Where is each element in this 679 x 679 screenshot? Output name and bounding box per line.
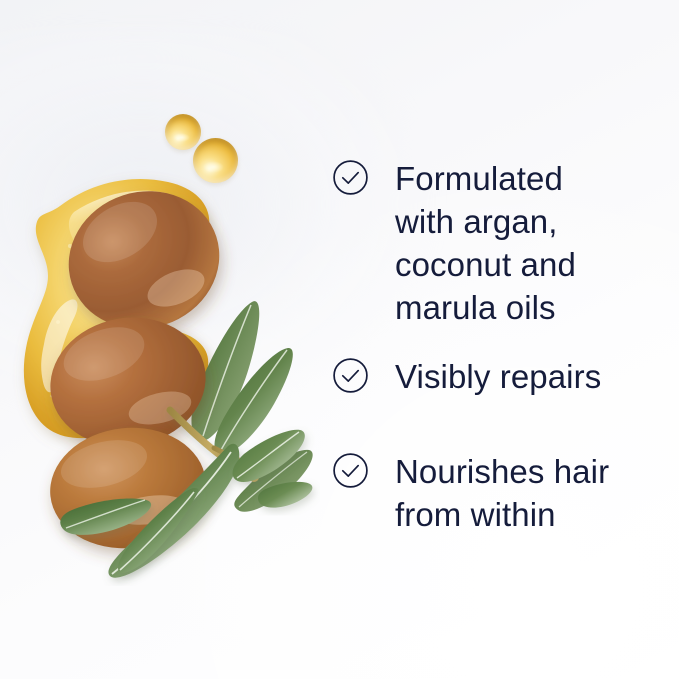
benefits-list: Formulated with argan, coconut and marul…: [332, 0, 679, 679]
infographic-canvas: Formulated with argan, coconut and marul…: [0, 0, 679, 679]
benefit-text-2: Visibly repairs: [395, 355, 601, 398]
benefit-item-3: Nourishes hair from within: [332, 450, 609, 536]
argan-leaf-sprig-front: [0, 96, 320, 586]
check-circle-icon: [332, 452, 369, 489]
product-ingredient-image: [0, 96, 320, 586]
check-circle-icon: [332, 357, 369, 394]
benefit-item-1: Formulated with argan, coconut and marul…: [332, 157, 576, 329]
check-circle-icon: [332, 159, 369, 196]
benefit-text-3: Nourishes hair from within: [395, 450, 609, 536]
benefit-text-1: Formulated with argan, coconut and marul…: [395, 157, 576, 329]
benefit-item-2: Visibly repairs: [332, 355, 601, 398]
